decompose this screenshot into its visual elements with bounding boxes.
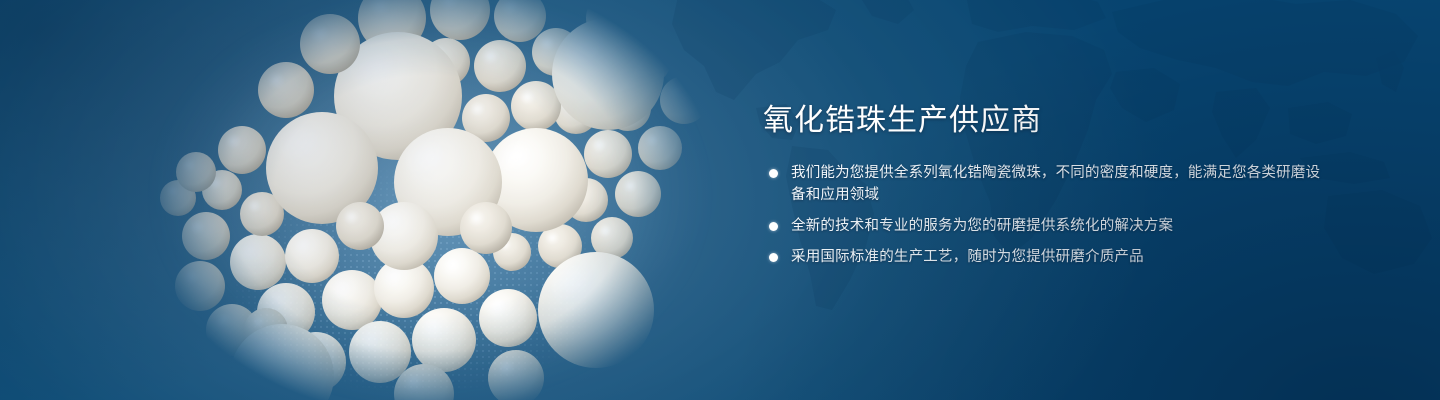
banner-vignette [0, 0, 1440, 400]
hero-banner: 氧化锆珠生产供应商 我们能为您提供全系列氧化锆陶瓷微珠，不同的密度和硬度，能满足… [0, 0, 1440, 400]
